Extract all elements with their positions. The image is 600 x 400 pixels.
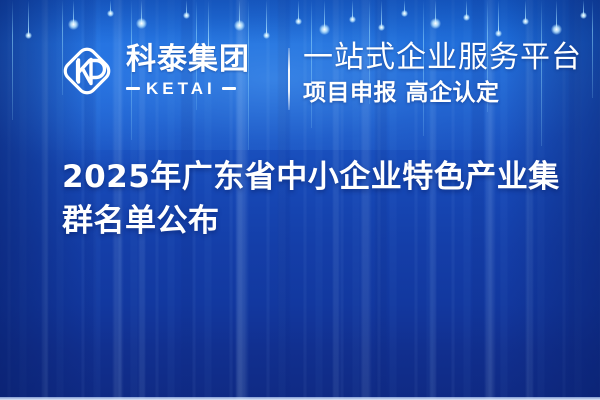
falling-streak-icon (556, 0, 557, 30)
brand-wordmark: 科泰集团 KETAI (126, 45, 250, 97)
brand-name-en: KETAI (146, 80, 216, 97)
falling-streak-icon (352, 0, 353, 20)
falling-streak-icon (404, 0, 405, 14)
slogan-secondary: 项目申报 高企认定 (303, 78, 582, 108)
falling-streak-icon (498, 0, 499, 34)
falling-streak-icon (141, 0, 142, 24)
falling-streak-icon (239, 0, 240, 26)
falling-streak-icon (298, 0, 299, 22)
header-vertical-divider (288, 48, 290, 110)
brand-name-cn: 科泰集团 (126, 45, 250, 75)
falling-streak-icon (525, 0, 526, 22)
brand-logo[interactable]: 科泰集团 KETAI (58, 42, 250, 100)
slogan-block: 一站式企业服务平台 项目申报 高企认定 (303, 40, 582, 108)
falling-streak-icon (28, 0, 29, 36)
headline-title: 2025年广东省中小企业特色产业集群名单公布 (62, 155, 562, 243)
ketai-diamond-kp-monogram-icon (58, 42, 116, 100)
falling-streak-icon (186, 0, 187, 16)
banner-header: 科泰集团 KETAI 一站式企业服务平台 项目申报 高企认定 (0, 40, 600, 116)
falling-streak-icon (466, 0, 467, 18)
brand-name-en-row: KETAI (126, 80, 250, 97)
promo-banner: 科泰集团 KETAI 一站式企业服务平台 项目申报 高企认定 2025年广东省中… (0, 0, 600, 400)
falling-streak-icon (435, 0, 436, 24)
slogan-primary: 一站式企业服务平台 (303, 40, 582, 76)
falling-streak-icon (583, 0, 584, 16)
falling-streak-icon (110, 0, 111, 14)
falling-streak-icon (73, 0, 74, 25)
falling-streak-icon (266, 0, 267, 36)
falling-streak-icon (381, 0, 382, 28)
wordmark-dash-left-icon (126, 87, 140, 90)
falling-streak-icon (324, 0, 325, 30)
wordmark-dash-right-icon (222, 87, 236, 90)
